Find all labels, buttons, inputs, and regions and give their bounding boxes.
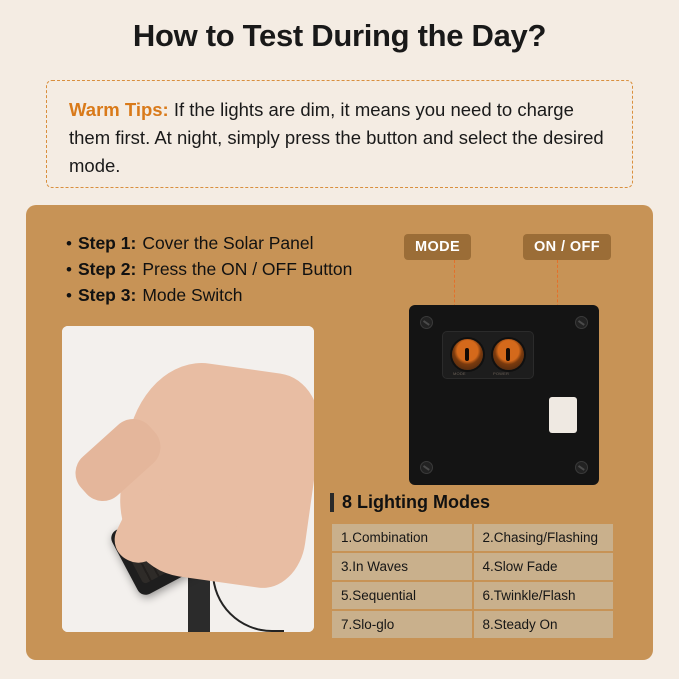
mode-cell: 4.Slow Fade [473,552,615,581]
heading-accent-bar [330,493,334,512]
screw-icon [575,461,588,474]
mode-cell: 8.Steady On [473,610,615,639]
step-label: Step 3: [78,285,136,306]
page-title: How to Test During the Day? [0,18,679,54]
warm-tips-box: Warm Tips: If the lights are dim, it mea… [46,80,633,188]
screw-icon [420,461,433,474]
bullet-icon: • [66,235,72,252]
step-text: Mode Switch [142,285,242,306]
steps-list: • Step 1: Cover the Solar Panel • Step 2… [66,233,406,311]
step-text: Press the ON / OFF Button [142,259,352,280]
port-opening [549,397,577,433]
photo-background [62,326,314,632]
mode-cell: 7.Slo-glo [331,610,473,639]
mode-cell: 1.Combination [331,523,473,552]
on-off-button-label: POWER [493,371,509,376]
step-label: Step 2: [78,259,136,280]
step-label: Step 1: [78,233,136,254]
screw-icon [575,316,588,329]
bullet-icon: • [66,287,72,304]
button-plate: MODE POWER [442,331,534,379]
bullet-icon: • [66,261,72,278]
mode-cell: 3.In Waves [331,552,473,581]
table-row: 1.Combination 2.Chasing/Flashing [331,523,614,552]
mode-button[interactable] [452,339,483,370]
warm-tips-text: Warm Tips: If the lights are dim, it mea… [69,96,610,180]
hand-covering-solar-panel-photo [62,326,314,632]
table-row: 5.Sequential 6.Twinkle/Flash [331,581,614,610]
callout-mode: MODE [404,234,471,260]
mode-cell: 5.Sequential [331,581,473,610]
controller-device-photo: MODE POWER [409,305,599,485]
infographic-page: How to Test During the Day? Warm Tips: I… [0,0,679,679]
table-row: 7.Slo-glo 8.Steady On [331,610,614,639]
on-off-button[interactable] [493,339,524,370]
step-item: • Step 1: Cover the Solar Panel [66,233,406,254]
step-item: • Step 2: Press the ON / OFF Button [66,259,406,280]
table-row: 3.In Waves 4.Slow Fade [331,552,614,581]
step-text: Cover the Solar Panel [142,233,313,254]
warm-tips-label: Warm Tips: [69,99,169,120]
mode-cell: 6.Twinkle/Flash [473,581,615,610]
mode-button-label: MODE [453,371,466,376]
screw-icon [420,316,433,329]
callout-onoff: ON / OFF [523,234,611,260]
step-item: • Step 3: Mode Switch [66,285,406,306]
lighting-modes-table: 1.Combination 2.Chasing/Flashing 3.In Wa… [330,522,615,640]
mode-cell: 2.Chasing/Flashing [473,523,615,552]
lighting-modes-header: 8 Lighting Modes [330,492,490,513]
lighting-modes-title: 8 Lighting Modes [342,492,490,513]
main-panel: • Step 1: Cover the Solar Panel • Step 2… [26,205,653,660]
